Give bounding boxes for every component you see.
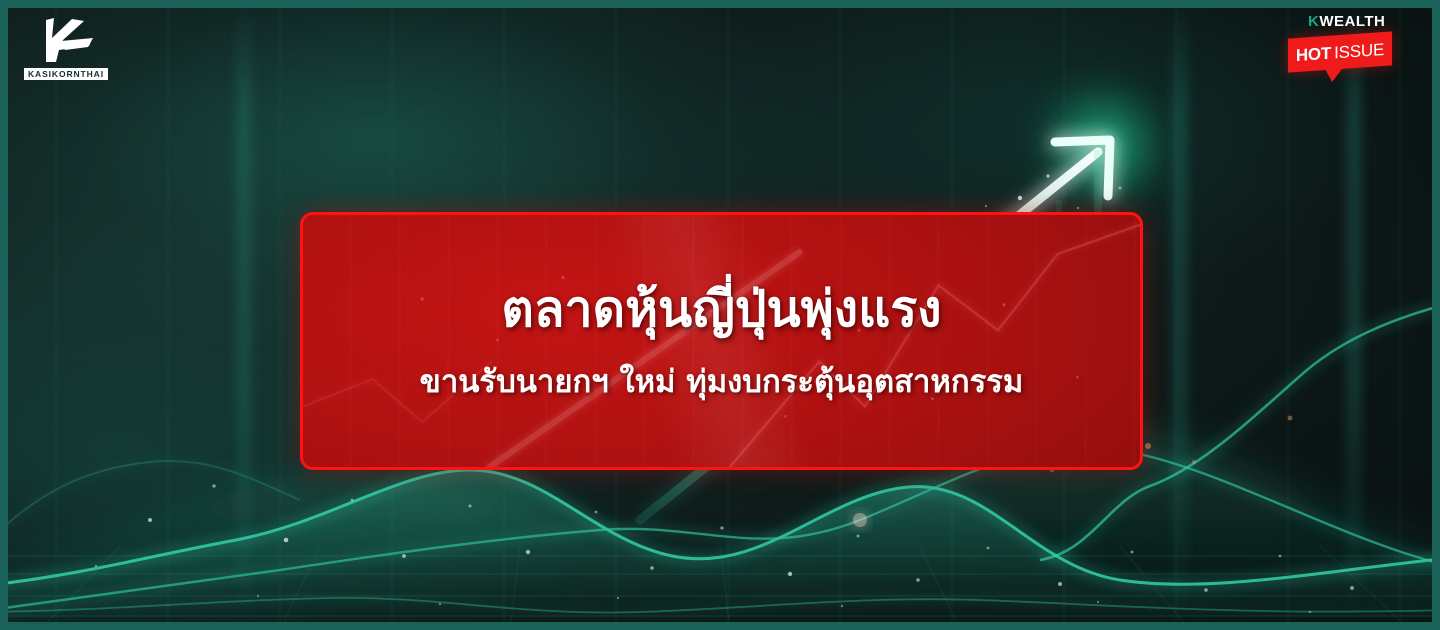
k-brushstroke-icon — [32, 16, 96, 64]
hot-issue-banner: KASIKORNTHAI KWEALTH HOT ISSUE — [0, 0, 1440, 630]
hot-issue-labels: HOT ISSUE — [1288, 31, 1392, 72]
card-light-streaks — [303, 215, 1140, 467]
logo-wordmark: KASIKORNTHAI — [24, 68, 108, 80]
issue-label: ISSUE — [1334, 40, 1384, 60]
card-chart-overlay — [303, 215, 1140, 467]
kwealth-text: WEALTH — [1319, 13, 1385, 30]
hot-label: HOT — [1296, 44, 1331, 63]
page-title: ตลาดหุ้นญี่ปุ่นพุ่งแรง — [501, 281, 941, 339]
page-subtitle: ขานรับนายกฯ ใหม่ ทุ่มงบกระตุ้นอุตสาหกรรม — [420, 364, 1024, 401]
kwealth-k-letter: K — [1308, 13, 1319, 30]
hot-issue-tag[interactable]: HOT ISSUE — [1288, 35, 1392, 69]
kwealth-logo: KWEALTH — [1302, 14, 1392, 29]
kwealth-hot-issue-badge[interactable]: KWEALTH HOT ISSUE — [1302, 14, 1392, 69]
kasikornthai-logo: KASIKORNTHAI — [24, 16, 120, 88]
title-card: ตลาดหุ้นญี่ปุ่นพุ่งแรง ขานรับนายกฯ ใหม่ … — [300, 212, 1143, 470]
